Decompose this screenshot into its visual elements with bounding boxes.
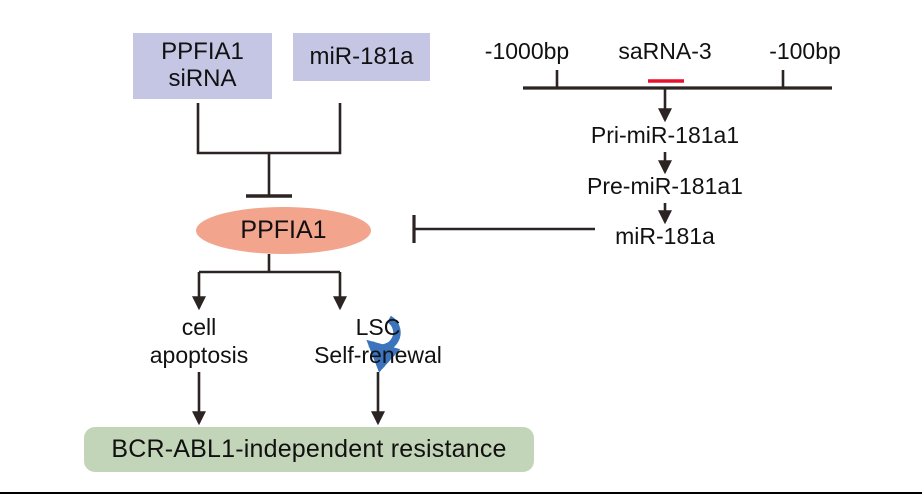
outcome-cell-apoptosis: cell apoptosis (119, 313, 279, 375)
self-renewal-line1: LSC (356, 313, 401, 341)
apoptosis-line1: cell (182, 313, 217, 341)
axis-label-right: -100bp (742, 36, 868, 66)
ppfia1-sirna-line1: PPFIA1 (161, 39, 244, 66)
result-banner-label: BCR-ABL1-independent resistance (111, 435, 506, 464)
axis-label-sarna3: saRNA-3 (600, 36, 730, 66)
self-renewal-line2: Self-renewal (314, 341, 442, 369)
input-box-ppfia1-sirna[interactable]: PPFIA1 siRNA (133, 33, 272, 99)
axis-label-left: -1000bp (462, 36, 592, 66)
central-node-ppfia1[interactable]: PPFIA1 (196, 207, 371, 254)
ppfia1-label: PPFIA1 (240, 216, 326, 245)
result-banner[interactable]: BCR-ABL1-independent resistance (84, 427, 534, 472)
cascade-node-mir-181a: miR-181a (555, 221, 775, 253)
cascade-node-pri-mir-181a1: Pri-miR-181a1 (555, 120, 775, 152)
apoptosis-line2: apoptosis (150, 341, 248, 369)
cascade-node-pre-mir-181a1: Pre-miR-181a1 (555, 171, 775, 203)
outcome-lsc-self-renewal: LSC Self-renewal (298, 313, 458, 375)
input-bracket (198, 103, 340, 153)
bottom-divider (0, 492, 922, 494)
input-box-mir-181a[interactable]: miR-181a (293, 33, 430, 81)
ppfia1-sirna-label: PPFIA1 siRNA (161, 39, 244, 93)
mir-181a-box-label: miR-181a (309, 44, 413, 71)
pathway-diagram: PPFIA1 siRNA miR-181a PPFIA1 -1000bp saR… (0, 0, 922, 499)
ppfia1-sirna-line2: siRNA (161, 66, 244, 93)
